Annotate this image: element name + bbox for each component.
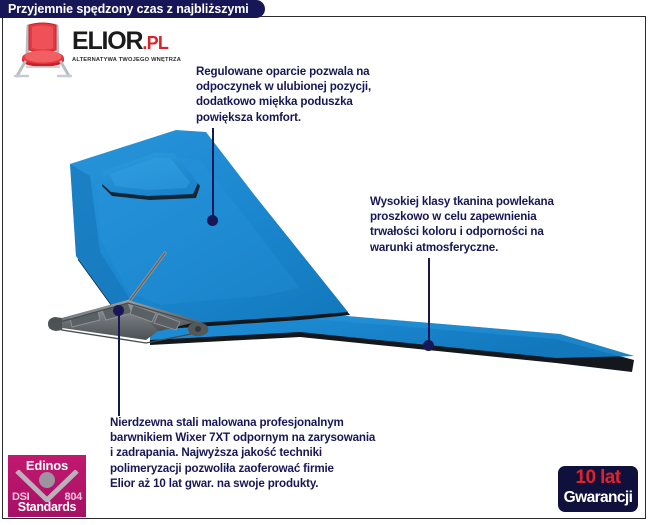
brand-name: ELIOR bbox=[72, 27, 142, 55]
brand-tld: .PL bbox=[142, 33, 168, 53]
brand-wordmark: ELIOR.PL bbox=[72, 28, 187, 56]
brand-logo-text: ELIOR.PL ALTERNATYWA TWOJEGO WNĘTRZA bbox=[72, 28, 187, 63]
hotspot-dot-steel bbox=[113, 305, 124, 316]
poster-root: Przyjemnie spędzony czas z najbliższymi … bbox=[0, 0, 650, 525]
brand-tagline: ALTERNATYWA TWOJEGO WNĘTRZA bbox=[72, 57, 189, 63]
warranty-years: 10 lat bbox=[558, 467, 638, 489]
brand-logo[interactable]: ELIOR.PL ALTERNATYWA TWOJEGO WNĘTRZA bbox=[10, 20, 190, 78]
edinos-badge: Edinos DSI 804 Standards bbox=[8, 455, 86, 517]
callout-backrest: Regulowane oparcie pozwala na odpoczynek… bbox=[196, 64, 436, 125]
hotspot-dot-fabric bbox=[423, 340, 434, 351]
hotspot-dot-backrest bbox=[207, 215, 218, 226]
red-chair-icon bbox=[12, 20, 74, 78]
callout-steel: Nierdzewna stali malowana profesjonalnym… bbox=[110, 415, 510, 491]
warranty-badge: 10 lat Gwarancji bbox=[558, 466, 638, 512]
header-banner: Przyjemnie spędzony czas z najbliższymi bbox=[0, 0, 265, 18]
callout-fabric: Wysokiej klasy tkanina powlekana proszko… bbox=[370, 194, 622, 255]
warranty-label: Gwarancji bbox=[558, 488, 638, 507]
edinos-standards-label: Standards bbox=[8, 500, 86, 514]
